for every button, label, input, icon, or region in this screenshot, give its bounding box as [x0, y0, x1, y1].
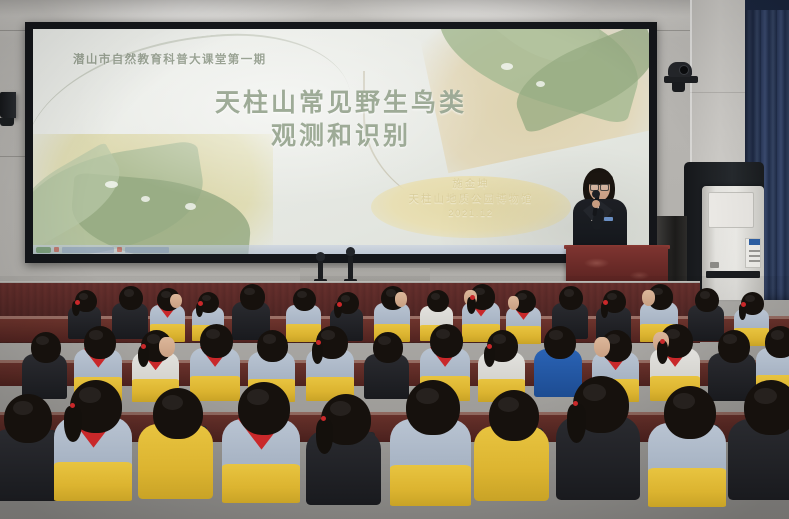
hair-highlight	[493, 334, 506, 343]
ac-display-icon	[749, 239, 760, 245]
uniform-yellow-panel	[54, 462, 132, 501]
start-button-icon[interactable]	[36, 247, 51, 253]
slide-credit-block: 施金坤 天柱山地质公园博物馆 2021.12	[369, 177, 573, 221]
ac-label-line-3	[749, 260, 760, 262]
microphone-head-icon	[592, 190, 600, 198]
audience-person	[556, 376, 662, 499]
audience-person-face	[508, 296, 520, 310]
uniform-yellow-panel	[222, 464, 300, 503]
ptz-camera-icon	[664, 62, 698, 92]
hair-highlight	[341, 295, 350, 302]
hair-highlight	[771, 330, 784, 339]
audience-person-face	[395, 292, 407, 307]
slide-credit-organization: 天柱山地质公园博物馆	[369, 192, 573, 207]
hair-highlight	[247, 389, 269, 405]
audience-person-face	[170, 294, 182, 308]
audience-person-face	[642, 290, 655, 306]
audience-person-face	[594, 337, 610, 356]
eyeglasses-icon	[590, 184, 609, 190]
slide-subtitle: 潜山市自然教育科普大课堂第一期	[73, 51, 267, 67]
slide-leaf-highlight-3	[185, 203, 196, 210]
hair-highlight	[162, 395, 183, 410]
presenter-speaker	[565, 168, 635, 254]
hair-highlight	[161, 291, 171, 298]
hair-highlight	[583, 384, 607, 401]
hair-highlight	[206, 329, 220, 339]
audience-person	[728, 380, 789, 499]
hair-highlight	[436, 329, 450, 339]
uniform-yellow-panel	[390, 465, 471, 506]
hair-highlight	[321, 330, 334, 340]
wall-seam-left	[0, 156, 26, 157]
slide-title: 天柱山常见野生鸟类 观测和识别	[33, 87, 649, 152]
hair-bobble	[487, 344, 492, 349]
projection-screen: 潜山市自然教育科普大课堂第一期 天柱山常见野生鸟类 观测和识别 施金坤 天柱山地…	[33, 29, 649, 254]
camera-lens	[680, 66, 688, 74]
hair-bobble	[141, 344, 146, 349]
projection-screen-frame: 潜山市自然教育科普大课堂第一期 天柱山常见野生鸟类 观测和识别 施金坤 天柱山地…	[25, 22, 657, 263]
curtain-rail	[745, 0, 789, 10]
slide-leaf-highlight-2	[141, 196, 150, 202]
hair-highlight	[124, 289, 134, 296]
mic-stand-1-head-icon	[316, 252, 325, 261]
hair-highlight	[89, 330, 102, 340]
ponytail	[138, 346, 149, 368]
windows-taskbar[interactable]	[33, 245, 649, 254]
taskbar-app-icon-1[interactable]	[54, 247, 59, 252]
hair-bobble	[741, 302, 746, 307]
hair-highlight	[745, 295, 755, 302]
hair-highlight	[386, 289, 396, 296]
hair-highlight	[498, 397, 519, 412]
hair-bobble	[316, 340, 321, 345]
hair-bobble	[321, 416, 326, 421]
ac-brand-logo	[710, 262, 719, 268]
ac-air-vent	[708, 192, 754, 228]
hair-bobble	[660, 339, 665, 344]
hair-bobble	[75, 300, 80, 305]
hair-highlight	[330, 401, 351, 416]
student-audience	[0, 276, 789, 519]
wall-speaker-icon	[0, 92, 16, 118]
presenter-hand	[592, 200, 600, 208]
ponytail	[484, 346, 495, 368]
audience-person-face	[159, 337, 175, 356]
hair-bobble	[337, 302, 342, 307]
hair-bobble	[603, 300, 608, 305]
hair-highlight	[431, 293, 440, 300]
hair-highlight	[297, 291, 307, 298]
hair-bobble	[470, 295, 475, 300]
audience-person	[374, 286, 420, 339]
audience-person	[474, 390, 569, 500]
hair-highlight	[673, 393, 695, 409]
hair-highlight	[754, 388, 777, 404]
ac-label-line-1	[749, 250, 760, 252]
hair-highlight	[700, 291, 710, 298]
uniform-yellow-panel	[648, 468, 726, 507]
slide-title-line-1: 天柱山常见野生鸟类	[33, 87, 649, 120]
hair-highlight	[79, 387, 101, 403]
hair-highlight	[549, 330, 562, 340]
hair-highlight	[416, 388, 439, 404]
taskbar-window-button-2[interactable]	[125, 247, 169, 253]
camera-bracket	[672, 82, 685, 92]
presenter-name-badge	[604, 217, 613, 221]
hair-highlight	[263, 334, 276, 343]
hair-highlight	[244, 288, 255, 296]
ponytail	[316, 419, 333, 454]
hair-bobble	[70, 403, 75, 408]
mic-stand-2-head-icon	[346, 247, 355, 256]
hair-highlight	[564, 289, 574, 296]
lecture-hall-photo: 潜山市自然教育科普大课堂第一期 天柱山常见野生鸟类 观测和识别 施金坤 天柱山地…	[0, 0, 789, 519]
ceiling-shadow	[0, 0, 789, 16]
slide-credit-presenter: 施金坤	[369, 177, 573, 192]
taskbar-window-button-1[interactable]	[62, 247, 114, 253]
hair-highlight	[147, 334, 160, 343]
slide-title-line-2: 观测和识别	[33, 120, 649, 153]
hair-highlight	[607, 293, 617, 300]
hair-highlight	[723, 334, 736, 344]
hair-highlight	[79, 293, 88, 300]
slide-leaf-highlight-1	[105, 181, 118, 188]
audience-person	[306, 394, 401, 504]
camera-body	[668, 62, 692, 77]
slide-credit-date: 2021.12	[369, 207, 573, 221]
hair-bobble	[573, 401, 578, 406]
audience-person	[138, 388, 233, 498]
ponytail	[657, 341, 668, 364]
taskbar-app-icon-2[interactable]	[117, 247, 122, 252]
ac-label-line-2	[749, 255, 760, 257]
slide-leaf-highlight-4	[501, 63, 513, 70]
